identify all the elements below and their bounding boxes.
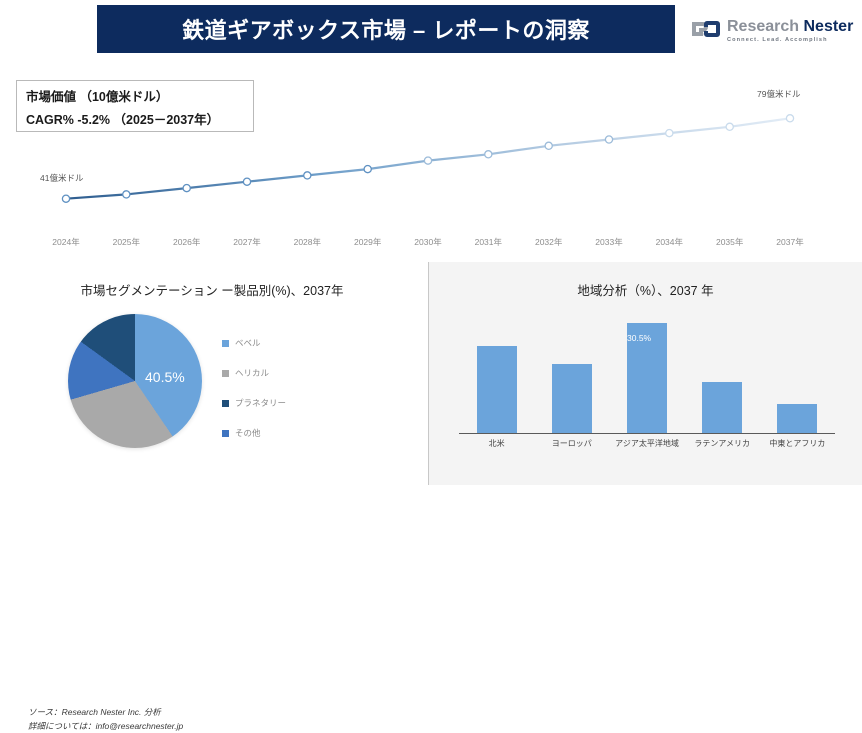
x-axis-tick-label: 2025年 xyxy=(113,236,140,248)
line-start-label: 41億米ドル xyxy=(40,172,83,184)
bar-column[interactable] xyxy=(552,364,592,432)
segmentation-panel: 市場セグメンテーション ー製品別(%)、2037年 40.5% ベベルヘリカルプ… xyxy=(0,262,424,485)
bar-column[interactable]: 30.5% xyxy=(627,323,667,432)
x-axis-tick-label: 2037年 xyxy=(776,236,803,248)
header-banner: 鉄道ギアボックス市場 – レポートの洞察 xyxy=(97,5,675,53)
legend-item[interactable]: ヘリカル xyxy=(222,358,352,388)
bar-category-label: アジア太平洋地域 xyxy=(615,438,679,449)
source-line-2: 詳細については：info@researchnester.jp xyxy=(28,719,183,733)
legend-item-label: ヘリカル xyxy=(235,367,269,379)
bar-column[interactable] xyxy=(477,346,517,432)
legend-item-label: プラネタリー xyxy=(235,397,286,409)
line-data-point xyxy=(666,130,673,137)
line-data-point xyxy=(485,151,492,158)
legend-swatch-icon xyxy=(222,430,229,437)
regional-analysis-panel: 地域分析（%）、2037 年 30.5% 北米ヨーロッパアジア太平洋地域ラテンア… xyxy=(428,262,862,485)
bar-category-label: ヨーロッパ xyxy=(552,438,592,449)
bar-rect: 30.5% xyxy=(627,323,667,432)
line-data-point xyxy=(304,172,311,179)
bar-chart-x-axis: 北米ヨーロッパアジア太平洋地域ラテンアメリカ中東とアフリカ xyxy=(459,438,835,456)
x-axis-tick-label: 2028年 xyxy=(294,236,321,248)
legend-swatch-icon xyxy=(222,400,229,407)
line-end-label: 79億米ドル xyxy=(757,88,800,100)
line-data-point xyxy=(786,115,793,122)
regional-analysis-title: 地域分析（%）、2037 年 xyxy=(429,280,862,299)
bar-column[interactable] xyxy=(777,404,817,433)
line-data-point xyxy=(183,185,190,192)
bar-rect xyxy=(702,382,742,432)
segmentation-legend: ベベルヘリカルプラネタリーその他 xyxy=(222,328,352,448)
logo-name-dark: Nester xyxy=(804,18,854,35)
legend-item[interactable]: その他 xyxy=(222,418,352,448)
line-data-point xyxy=(364,166,371,173)
brand-logo[interactable]: Research Nester Connect. Lead. Accomplis… xyxy=(690,13,855,49)
logo-tagline: Connect. Lead. Accomplish xyxy=(727,38,853,44)
legend-item-label: その他 xyxy=(235,427,261,439)
x-axis-tick-label: 2024年 xyxy=(52,236,79,248)
source-line-1: ソース：Research Nester Inc. 分析 xyxy=(28,705,183,719)
x-axis-tick-label: 2031年 xyxy=(475,236,502,248)
line-data-point xyxy=(123,191,130,198)
x-axis-tick-label: 2033年 xyxy=(595,236,622,248)
legend-item[interactable]: プラネタリー xyxy=(222,388,352,418)
research-nester-link-icon xyxy=(690,18,720,45)
line-data-point xyxy=(424,157,431,164)
line-data-point xyxy=(605,136,612,143)
x-axis-tick-label: 2032年 xyxy=(535,236,562,248)
bar-rect xyxy=(777,404,817,433)
market-forecast-line-chart xyxy=(0,60,862,235)
page-title: 鉄道ギアボックス市場 – レポートの洞察 xyxy=(182,13,590,45)
x-axis-tick-label: 2034年 xyxy=(656,236,683,248)
logo-text: Research Nester Connect. Lead. Accomplis… xyxy=(727,19,853,44)
legend-item[interactable]: ベベル xyxy=(222,328,352,358)
line-data-point xyxy=(726,123,733,130)
bar-chart-baseline xyxy=(459,433,835,435)
segmentation-title: 市場セグメンテーション ー製品別(%)、2037年 xyxy=(0,280,424,299)
legend-swatch-icon xyxy=(222,370,229,377)
bar-category-label: 北米 xyxy=(489,438,505,449)
x-axis-tick-label: 2026年 xyxy=(173,236,200,248)
source-note: ソース：Research Nester Inc. 分析 詳細については：info… xyxy=(28,705,183,733)
x-axis-tick-label: 2030年 xyxy=(414,236,441,248)
logo-name-light: Research xyxy=(727,18,799,35)
x-axis-tick-label: 2027年 xyxy=(233,236,260,248)
regional-analysis-bar-chart: 30.5% xyxy=(459,312,835,434)
bar-column[interactable] xyxy=(702,382,742,432)
x-axis-tick-label: 2035年 xyxy=(716,236,743,248)
line-data-point xyxy=(62,195,69,202)
bar-rect xyxy=(477,346,517,432)
bar-rect xyxy=(552,364,592,432)
line-data-point xyxy=(243,178,250,185)
legend-item-label: ベベル xyxy=(235,337,261,349)
segmentation-pie-chart: 40.5% xyxy=(68,314,202,448)
bar-value-label: 30.5% xyxy=(627,333,651,343)
logo-name: Research Nester xyxy=(727,19,853,35)
bar-category-label: ラテンアメリカ xyxy=(694,438,750,449)
bar-category-label: 中東とアフリカ xyxy=(769,438,825,449)
line-chart-x-axis: 2024年2025年2026年2027年2028年2029年2030年2031年… xyxy=(0,236,862,256)
x-axis-tick-label: 2029年 xyxy=(354,236,381,248)
pie-slice-value-label: 40.5% xyxy=(145,369,185,385)
line-data-point xyxy=(545,142,552,149)
legend-swatch-icon xyxy=(222,340,229,347)
